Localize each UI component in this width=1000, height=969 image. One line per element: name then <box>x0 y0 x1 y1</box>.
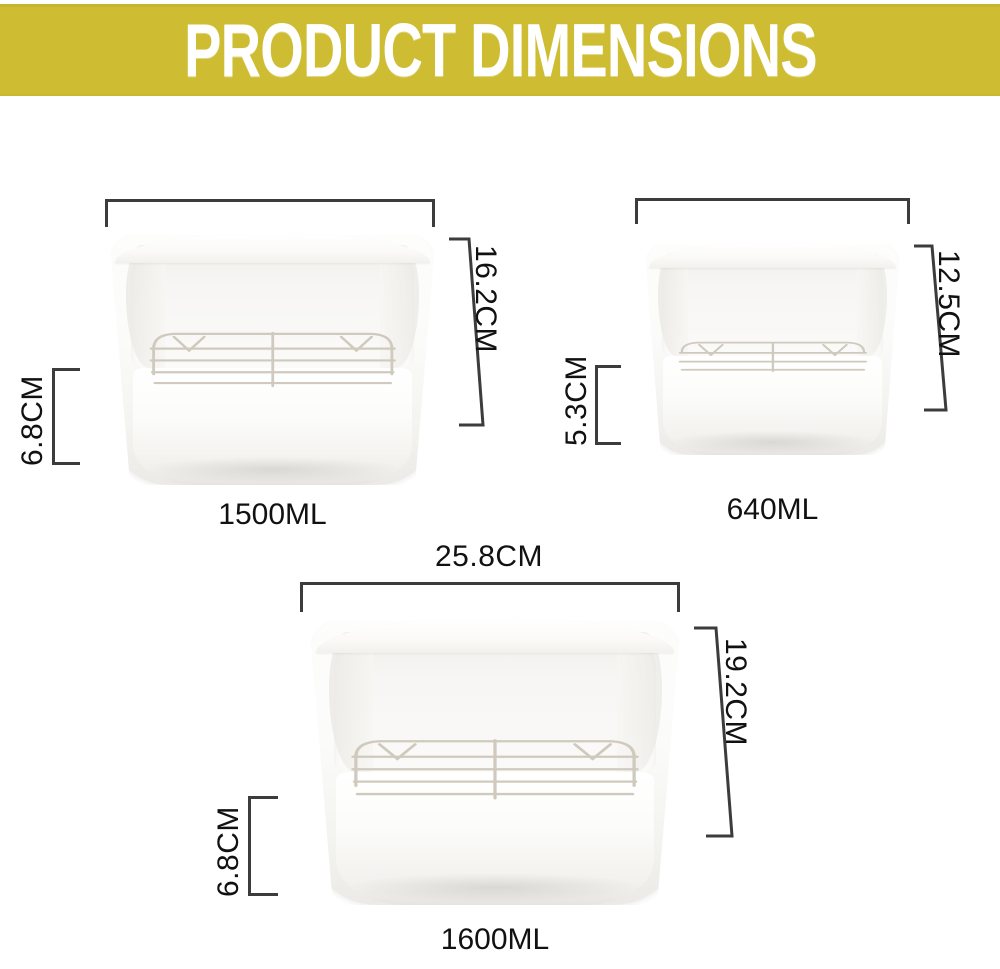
width-label-1600ml: 25.8CM <box>435 542 543 572</box>
width-bracket-640ml <box>635 198 910 224</box>
bracket-tick-bottom <box>595 442 621 445</box>
height-bracket-640ml <box>595 365 621 445</box>
bracket-tick-top <box>52 368 80 371</box>
bracket-tick-left <box>105 199 108 227</box>
wire-rack-1500ml <box>146 327 400 396</box>
container-shadow <box>671 431 875 453</box>
wire-rack-640ml <box>676 339 870 376</box>
depth-label-1600ml: 19.2CM <box>720 638 750 746</box>
bracket-tick-top <box>248 796 278 799</box>
bracket-tick-right <box>677 582 680 612</box>
height-label-1500ml: 6.8CM <box>18 375 48 466</box>
bracket-bar <box>635 198 910 201</box>
container-illustration-640ml <box>645 240 900 455</box>
height-label-640ml: 5.3CM <box>562 355 592 446</box>
volume-label-1600ml: 1600ML <box>310 925 680 955</box>
container-illustration-1500ml <box>110 230 435 485</box>
bracket-tick-right <box>907 198 910 224</box>
width-bracket-1500ml <box>105 199 435 227</box>
bracket-tick-right <box>432 199 435 227</box>
bracket-bar <box>300 582 680 585</box>
bracket-tick-left <box>635 198 638 224</box>
header-banner: PRODUCT DIMENSIONS <box>0 4 1000 96</box>
product-640ml: 16.8CM <box>520 140 1000 530</box>
volume-label-640ml: 640ML <box>645 495 900 525</box>
bracket-tick-bottom <box>248 893 278 896</box>
bracket-bar <box>52 368 55 465</box>
bracket-bar <box>248 796 251 896</box>
width-bracket-1600ml <box>300 582 680 612</box>
container-shadow <box>347 873 643 902</box>
height-bracket-1500ml <box>52 368 80 465</box>
bracket-bar <box>595 365 598 445</box>
product-1500ml: 22.1CM <box>0 140 520 530</box>
volume-label-1500ml: 1500ML <box>110 500 435 530</box>
container-illustration-1600ml <box>310 615 680 905</box>
bracket-bar <box>105 199 435 202</box>
product-dimensions-infographic: PRODUCT DIMENSIONS 22.1CM <box>0 0 1000 969</box>
height-label-1600ml: 6.8CM <box>214 806 244 897</box>
product-1600ml: 25.8CM <box>180 530 840 969</box>
bracket-tick-top <box>595 365 621 368</box>
height-bracket-1600ml <box>248 796 278 896</box>
depth-label-1500ml: 16.2CM <box>470 245 500 353</box>
depth-label-640ml: 12.5CM <box>933 250 963 358</box>
bracket-tick-left <box>300 582 303 612</box>
wire-rack-1600ml <box>347 734 643 807</box>
bracket-tick-bottom <box>52 462 80 465</box>
page-title: PRODUCT DIMENSIONS <box>184 12 817 88</box>
